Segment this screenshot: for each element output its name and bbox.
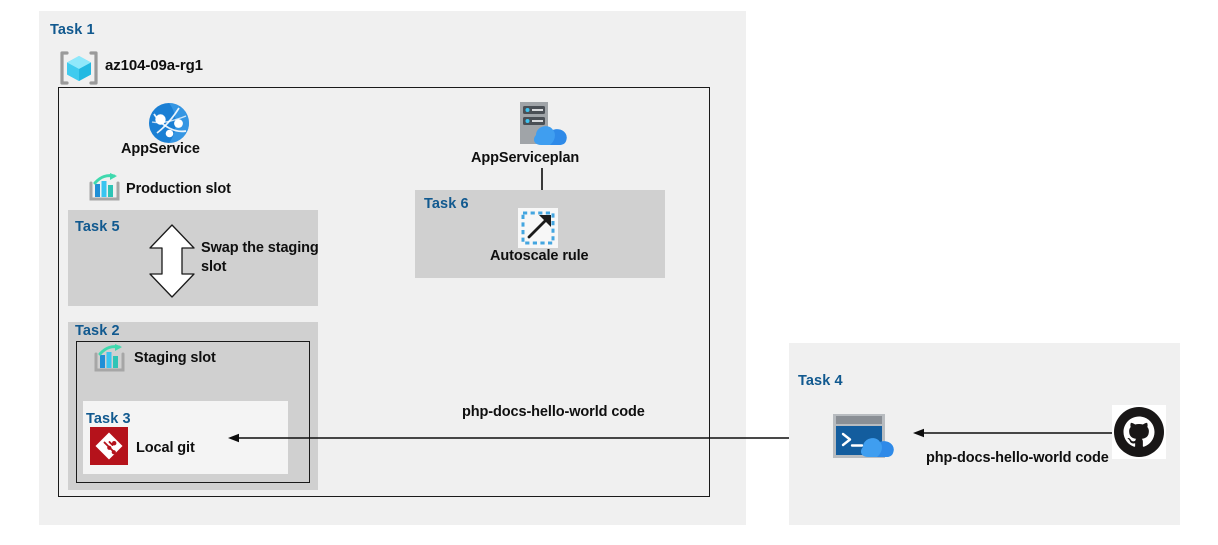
autoscale-rule-label: Autoscale rule [490, 248, 589, 264]
github-icon [1112, 405, 1166, 459]
github-to-cloudshell-arrow [913, 427, 1113, 439]
task6-label: Task 6 [424, 196, 469, 212]
task4-label: Task 4 [798, 373, 843, 389]
app-service-plan-icon [512, 100, 574, 148]
git-icon [90, 427, 128, 465]
local-git-label: Local git [136, 440, 195, 456]
task1-label: Task 1 [50, 22, 95, 38]
deployment-slot-icon [93, 344, 127, 376]
autoscale-rule-icon [518, 208, 558, 248]
task3-label: Task 3 [86, 411, 131, 427]
task4-flow-label: php-docs-hello-world code [926, 448, 1092, 468]
deployment-slot-icon [88, 173, 122, 205]
swap-double-arrow-icon [148, 224, 196, 298]
diagram-canvas: Task 1 az104-09a-rg1 AppService [0, 0, 1218, 545]
center-flow-label: php-docs-hello-world code [462, 402, 628, 422]
swap-staging-slot-text: Swap the staging slot [201, 239, 321, 277]
cloudshell-to-localgit-arrow [228, 432, 846, 444]
staging-slot-label: Staging slot [134, 350, 216, 366]
cloud-shell-icon [832, 413, 902, 459]
task2-label: Task 2 [75, 323, 120, 339]
resource-group-cube-icon [60, 50, 98, 86]
app-service-globe-icon [148, 102, 190, 144]
appservice-label: AppService [121, 141, 200, 157]
appserviceplan-label: AppServiceplan [471, 150, 579, 166]
task5-label: Task 5 [75, 219, 120, 235]
resource-group-name: az104-09a-rg1 [105, 57, 203, 74]
production-slot-label: Production slot [126, 181, 231, 197]
